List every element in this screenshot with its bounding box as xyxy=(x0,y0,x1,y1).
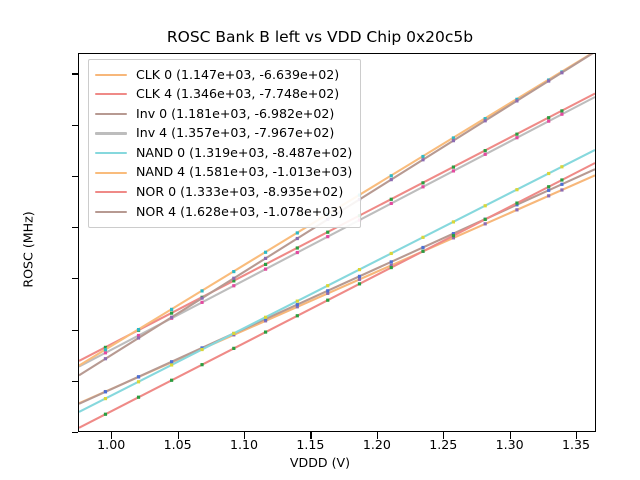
data-point xyxy=(547,79,550,82)
data-point xyxy=(137,380,140,383)
data-point xyxy=(547,120,550,123)
data-point xyxy=(170,379,173,382)
legend-item-nand-4[interactable]: NAND 4 (1.581e+03, -1.013e+03) xyxy=(95,163,352,183)
data-point xyxy=(390,266,393,269)
data-point xyxy=(515,133,518,136)
data-point xyxy=(452,139,455,142)
y-tick-mark xyxy=(72,278,79,279)
data-point xyxy=(104,390,107,393)
data-point xyxy=(452,234,455,237)
data-point xyxy=(296,237,299,240)
data-point xyxy=(326,289,329,292)
y-tick-mark xyxy=(72,381,79,382)
data-point xyxy=(296,251,299,254)
data-point xyxy=(137,375,140,378)
data-point xyxy=(560,71,563,74)
data-point xyxy=(484,153,487,156)
legend-item-label: NOR 0 (1.333e+03, -8.935e+02) xyxy=(136,186,343,199)
data-point xyxy=(484,222,487,225)
data-point xyxy=(137,328,140,331)
data-point xyxy=(264,263,267,266)
data-point xyxy=(452,166,455,169)
data-point xyxy=(452,220,455,223)
data-point xyxy=(484,204,487,207)
data-point xyxy=(232,284,235,287)
data-point xyxy=(421,246,424,249)
legend-item-label: NAND 4 (1.581e+03, -1.013e+03) xyxy=(136,166,352,179)
data-point xyxy=(170,308,173,311)
legend-item-label: Inv 0 (1.181e+03, -6.982e+02) xyxy=(136,108,334,121)
data-point xyxy=(390,260,393,263)
data-point xyxy=(104,351,107,354)
data-point xyxy=(200,297,203,300)
data-point xyxy=(560,188,563,191)
data-point xyxy=(358,268,361,271)
data-point xyxy=(560,113,563,116)
y-tick-mark xyxy=(72,73,79,74)
data-point xyxy=(104,357,107,360)
data-point xyxy=(560,178,563,181)
data-point xyxy=(296,314,299,317)
data-point xyxy=(326,284,329,287)
legend-item-label: NOR 4 (1.628e+03, -1.078e+03) xyxy=(136,206,343,219)
data-point xyxy=(264,316,267,319)
legend: CLK 0 (1.147e+03, -6.639e+02)CLK 4 (1.34… xyxy=(88,59,361,228)
y-tick-mark xyxy=(72,432,79,433)
data-point xyxy=(200,301,203,304)
data-point xyxy=(484,218,487,221)
data-point xyxy=(515,208,518,211)
data-point xyxy=(296,300,299,303)
matplotlib-figure: ROSC Bank B left vs VDD Chip 0x20c5b 400… xyxy=(0,0,640,480)
legend-item-label: CLK 4 (1.346e+03, -7.748e+02) xyxy=(136,88,339,101)
data-point xyxy=(326,235,329,238)
data-point xyxy=(547,185,550,188)
data-point xyxy=(232,270,235,273)
data-point xyxy=(484,119,487,122)
y-tick-mark xyxy=(72,330,79,331)
data-point xyxy=(104,397,107,400)
data-point xyxy=(358,275,361,278)
legend-swatch-icon xyxy=(95,132,127,134)
data-point xyxy=(390,174,393,177)
data-point xyxy=(452,169,455,172)
data-point xyxy=(547,116,550,119)
data-point xyxy=(200,363,203,366)
data-point xyxy=(484,149,487,152)
legend-item-clk-4[interactable]: CLK 4 (1.346e+03, -7.748e+02) xyxy=(95,85,352,105)
data-point xyxy=(560,183,563,186)
legend-swatch-icon xyxy=(95,191,127,193)
legend-swatch-icon xyxy=(95,113,127,115)
data-point xyxy=(547,172,550,175)
legend-swatch-icon xyxy=(95,211,127,213)
data-point xyxy=(170,312,173,315)
data-point xyxy=(326,299,329,302)
data-point xyxy=(515,99,518,102)
data-point xyxy=(560,165,563,168)
x-axis-label: VDDD (V) xyxy=(0,455,640,470)
data-point xyxy=(547,189,550,192)
data-point xyxy=(137,336,140,339)
data-point xyxy=(390,198,393,201)
data-point xyxy=(170,363,173,366)
data-point xyxy=(137,396,140,399)
data-point xyxy=(560,109,563,112)
y-tick-mark xyxy=(72,227,79,228)
data-point xyxy=(104,348,107,351)
data-point xyxy=(421,185,424,188)
data-point xyxy=(421,155,424,158)
data-point xyxy=(421,250,424,253)
legend-swatch-icon xyxy=(95,152,127,154)
data-point xyxy=(515,136,518,139)
data-point xyxy=(390,252,393,255)
data-point xyxy=(421,158,424,161)
data-point xyxy=(264,251,267,254)
data-point xyxy=(421,181,424,184)
data-point xyxy=(296,246,299,249)
data-point xyxy=(170,360,173,363)
data-point xyxy=(232,332,235,335)
legend-item-label: NAND 0 (1.319e+03, -8.487e+02) xyxy=(136,147,352,160)
data-point xyxy=(296,231,299,234)
x-tick-label: 1.35 xyxy=(536,437,616,452)
data-point xyxy=(358,278,361,281)
legend-item-label: Inv 4 (1.357e+03, -7.967e+02) xyxy=(136,127,334,140)
legend-swatch-icon xyxy=(95,93,127,95)
data-point xyxy=(326,231,329,234)
data-point xyxy=(200,348,203,351)
legend-item-nor-0[interactable]: NOR 0 (1.333e+03, -8.935e+02) xyxy=(95,183,352,203)
data-point xyxy=(515,201,518,204)
data-point xyxy=(358,282,361,285)
data-point xyxy=(104,413,107,416)
data-point xyxy=(296,303,299,306)
y-tick-mark xyxy=(72,125,79,126)
data-point xyxy=(264,268,267,271)
data-point xyxy=(421,236,424,239)
data-point xyxy=(264,330,267,333)
legend-item-nand-0[interactable]: NAND 0 (1.319e+03, -8.487e+02) xyxy=(95,143,352,163)
y-axis-label: ROSC (MHz) xyxy=(21,170,36,330)
data-point xyxy=(547,194,550,197)
data-point xyxy=(390,178,393,181)
data-point xyxy=(232,347,235,350)
data-point xyxy=(170,316,173,319)
y-tick-mark xyxy=(72,176,79,177)
data-point xyxy=(515,188,518,191)
legend-item-inv-4[interactable]: Inv 4 (1.357e+03, -7.967e+02) xyxy=(95,124,352,144)
legend-item-inv-0[interactable]: Inv 0 (1.181e+03, -6.982e+02) xyxy=(95,104,352,124)
legend-item-clk-0[interactable]: CLK 0 (1.147e+03, -6.639e+02) xyxy=(95,65,352,85)
data-point xyxy=(264,257,267,260)
legend-swatch-icon xyxy=(95,74,127,76)
data-point xyxy=(232,277,235,280)
legend-swatch-icon xyxy=(95,172,127,174)
page-title: ROSC Bank B left vs VDD Chip 0x20c5b xyxy=(0,28,640,46)
legend-item-nor-4[interactable]: NOR 4 (1.628e+03, -1.078e+03) xyxy=(95,202,352,222)
data-point xyxy=(200,289,203,292)
legend-item-label: CLK 0 (1.147e+03, -6.639e+02) xyxy=(136,69,339,82)
data-point xyxy=(390,202,393,205)
